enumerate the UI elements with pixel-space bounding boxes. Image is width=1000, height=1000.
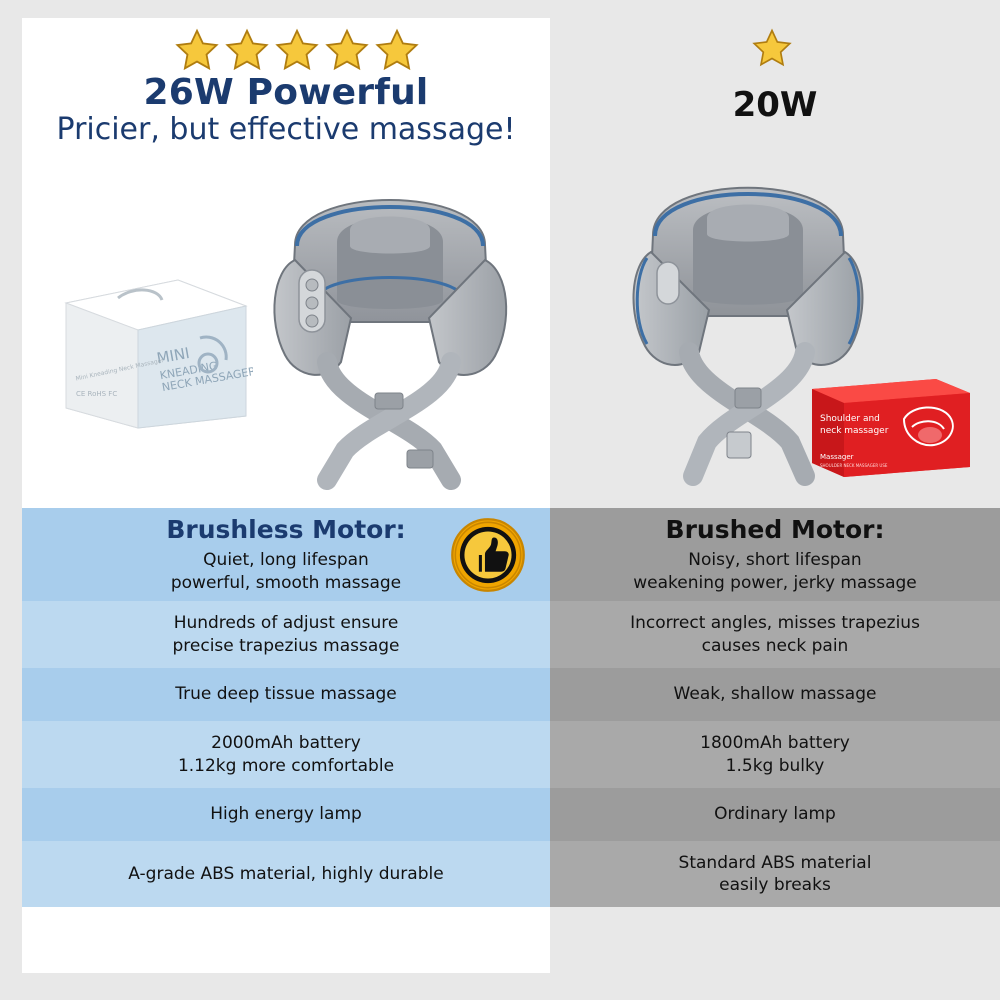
right-box-title-2: neck massager	[820, 426, 889, 436]
right-feature-line1: Weak, shallow massage	[674, 683, 877, 705]
table-row: High energy lamp Ordinary lamp	[22, 788, 1000, 841]
row-right-cell: Weak, shallow massage	[550, 668, 1000, 721]
left-feature-line2: powerful, smooth massage	[171, 572, 401, 594]
right-feature-line2: easily breaks	[719, 874, 831, 896]
comparison-infographic: 26W Powerful Pricier, but effective mass…	[0, 0, 1000, 1000]
row-right-cell: Brushed Motor: Noisy, short lifespan wea…	[550, 508, 1000, 601]
table-row: 2000mAh battery 1.12kg more comfortable …	[22, 721, 1000, 788]
row-right-cell: 1800mAh battery 1.5kg bulky	[550, 721, 1000, 788]
left-feature-line1: True deep tissue massage	[175, 683, 397, 705]
left-star-rating	[175, 28, 419, 72]
row-left-cell: Hundreds of adjust ensure precise trapez…	[22, 601, 550, 668]
table-row: A-grade ABS material, highly durable Sta…	[22, 841, 1000, 907]
left-feature-line1: 2000mAh battery	[211, 732, 361, 754]
right-feature-line1: Standard ABS material	[679, 852, 872, 874]
left-title: 26W Powerful	[22, 72, 550, 113]
star-icon	[175, 28, 219, 72]
right-feature-line2: causes neck pain	[702, 635, 849, 657]
row-left-cell: A-grade ABS material, highly durable	[22, 841, 550, 907]
left-feature-line2: 1.12kg more comfortable	[178, 755, 394, 777]
row-right-cell: Incorrect angles, misses trapezius cause…	[550, 601, 1000, 668]
left-massager-image	[255, 150, 525, 500]
left-feature-line1: A-grade ABS material, highly durable	[128, 863, 443, 885]
left-feature-heading: Brushless Motor:	[166, 515, 405, 544]
row-left-cell: Brushless Motor: Quiet, long lifespan po…	[22, 508, 550, 601]
left-subtitle: Pricier, but effective massage!	[22, 112, 550, 147]
row-left-cell: True deep tissue massage	[22, 668, 550, 721]
table-row: Brushless Motor: Quiet, long lifespan po…	[22, 508, 1000, 601]
right-feature-line1: 1800mAh battery	[700, 732, 850, 754]
star-icon	[325, 28, 369, 72]
star-icon	[225, 28, 269, 72]
right-title: 20W	[550, 85, 1000, 125]
right-feature-line1: Noisy, short lifespan	[688, 549, 861, 571]
star-icon	[375, 28, 419, 72]
row-right-cell: Standard ABS material easily breaks	[550, 841, 1000, 907]
svg-text:CE RoHS FC: CE RoHS FC	[76, 390, 117, 398]
right-box-title-1: Shoulder and	[820, 414, 880, 424]
table-row: True deep tissue massage Weak, shallow m…	[22, 668, 1000, 721]
row-left-cell: High energy lamp	[22, 788, 550, 841]
right-feature-line1: Ordinary lamp	[714, 803, 836, 825]
left-product-box: MINI KNEADING NECK MASSAGER CE RoHS FC M…	[58, 268, 253, 433]
right-feature-line2: 1.5kg bulky	[726, 755, 825, 777]
star-icon	[752, 28, 792, 68]
left-card-footer	[22, 938, 550, 973]
left-feature-line1: Quiet, long lifespan	[203, 549, 369, 571]
row-right-cell: Ordinary lamp	[550, 788, 1000, 841]
comparison-table: Brushless Motor: Quiet, long lifespan po…	[22, 508, 1000, 938]
row-left-cell: 2000mAh battery 1.12kg more comfortable	[22, 721, 550, 788]
table-row: Hundreds of adjust ensure precise trapez…	[22, 601, 1000, 668]
thumbs-up-icon	[450, 517, 526, 593]
right-star-rating	[752, 28, 792, 68]
right-feature-heading: Brushed Motor:	[666, 515, 885, 544]
right-box-sub: Massager	[820, 453, 854, 461]
left-feature-line2: precise trapezius massage	[172, 635, 399, 657]
right-feature-line1: Incorrect angles, misses trapezius	[630, 612, 920, 634]
left-feature-line1: High energy lamp	[210, 803, 362, 825]
right-feature-line2: weakening power, jerky massage	[633, 572, 917, 594]
right-product-box: Shoulder and neck massager Massager SHOU…	[808, 375, 973, 480]
star-icon	[275, 28, 319, 72]
svg-text:SHOULDER NECK MASSAGER USE: SHOULDER NECK MASSAGER USE	[820, 463, 888, 468]
left-feature-line1: Hundreds of adjust ensure	[174, 612, 399, 634]
